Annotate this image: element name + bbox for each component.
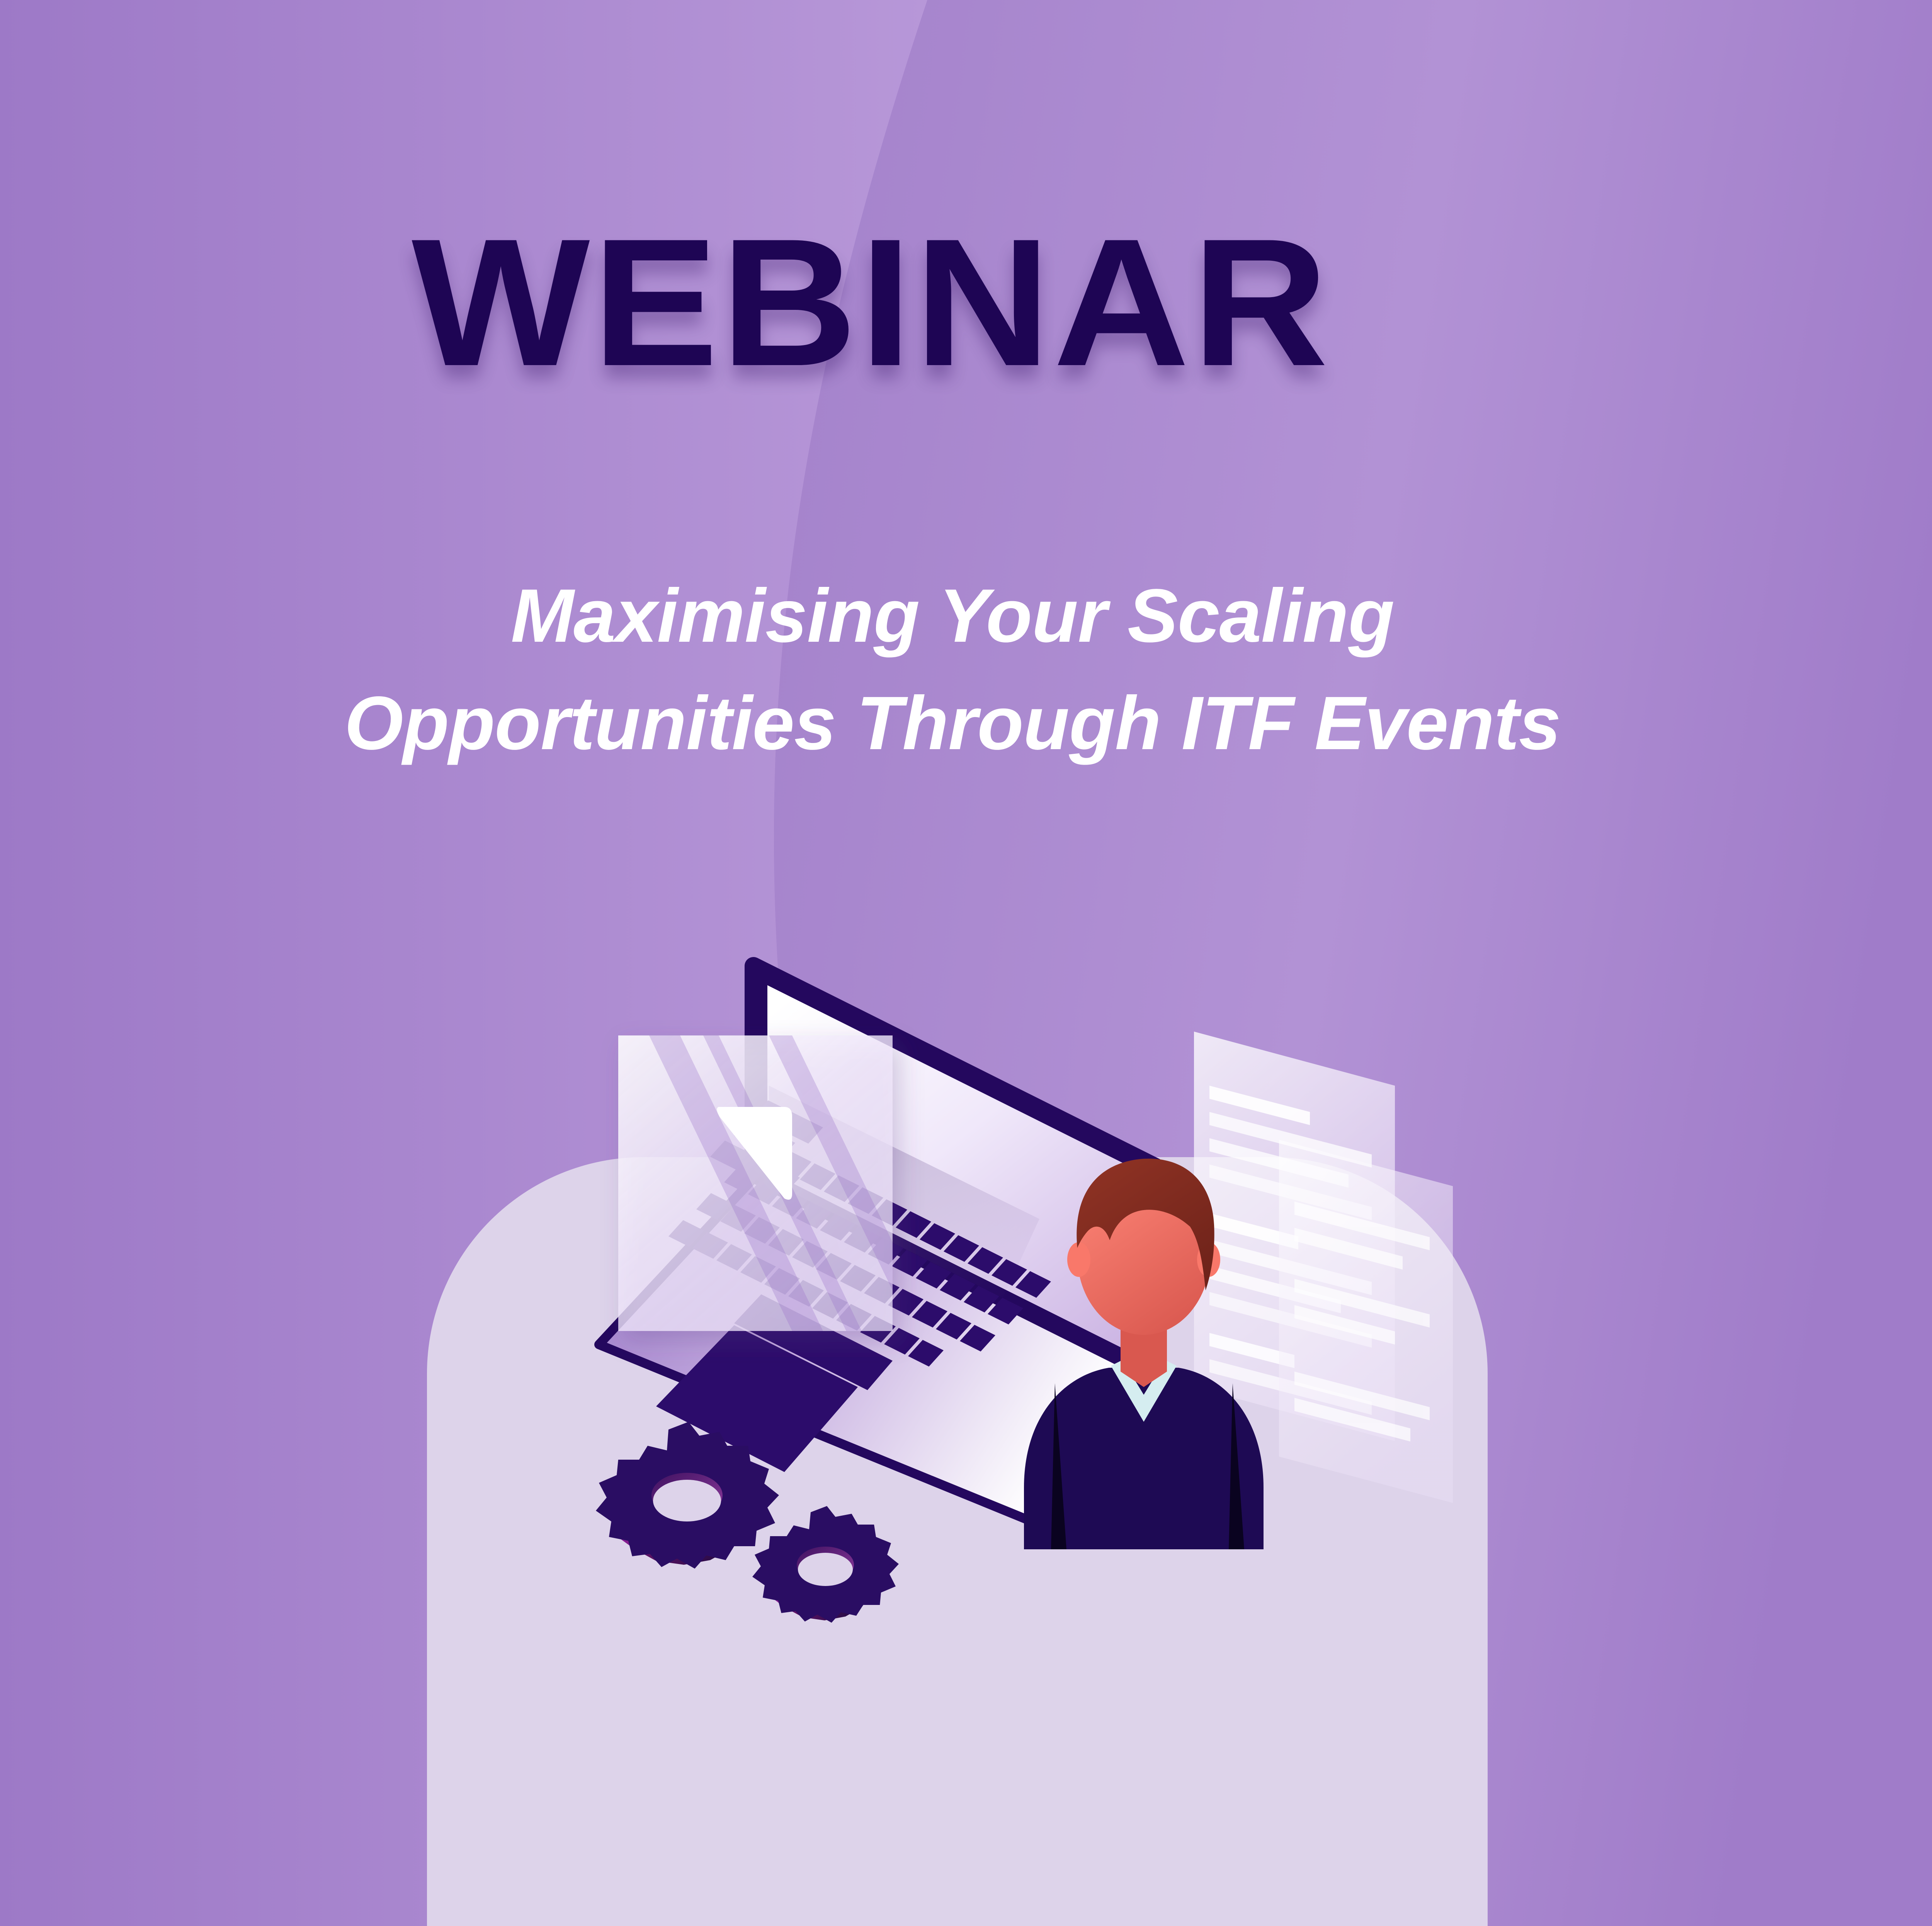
gear-small	[752, 1506, 899, 1623]
gear-small-top	[752, 1506, 899, 1623]
webinar-poster: WEBINAR Maximising Your Scaling Opportun…	[0, 0, 1932, 1926]
video-card[interactable]	[618, 1035, 893, 1331]
webinar-illustration	[553, 869, 1453, 1642]
